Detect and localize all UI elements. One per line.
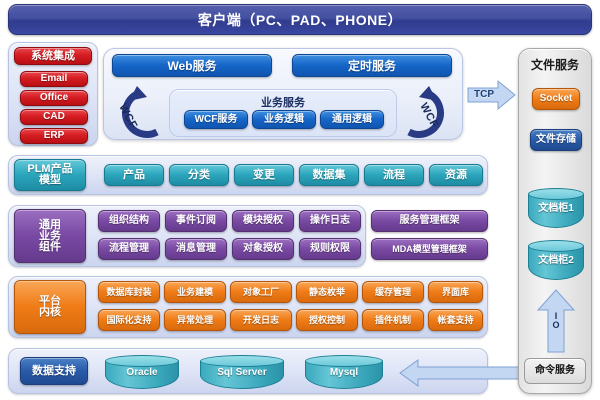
business-item-wcf-service[interactable]: WCF服务 (184, 110, 248, 129)
common-components-header-line3: 组件 (39, 242, 61, 253)
business-item-label: 业务逻辑 (264, 115, 304, 125)
kernel-account-set-support[interactable]: 帐套支持 (428, 309, 483, 331)
business-item-business-logic[interactable]: 业务逻辑 (252, 110, 316, 129)
component-label: 规则权限 (310, 244, 350, 254)
integration-item-label: Email (41, 74, 68, 84)
plm-item-process[interactable]: 流程 (364, 164, 424, 186)
timer-service-box[interactable]: 定时服务 (292, 54, 452, 77)
integration-item-erp[interactable]: ERP (20, 128, 88, 144)
file-cabinet-label: 文档柜2 (528, 256, 584, 266)
kernel-header: 平台 内核 (14, 280, 86, 334)
component-label: 对象授权 (243, 244, 283, 254)
kernel-item-label: 帐套支持 (437, 316, 473, 325)
kernel-static-enum[interactable]: 静态枚举 (296, 281, 358, 303)
plm-item-label: 数据集 (313, 170, 346, 181)
kernel-item-label: 对象工厂 (243, 288, 279, 297)
component-label: 流程管理 (109, 244, 149, 254)
file-cabinet-1[interactable]: 文档柜1 (528, 188, 584, 228)
framework-mda-model-management[interactable]: MDA模型管理框架 (371, 238, 488, 260)
plm-item-dataset[interactable]: 数据集 (299, 164, 359, 186)
kernel-item-label: 数据库封装 (106, 288, 151, 297)
kernel-item-label: 授权控制 (309, 316, 345, 325)
component-org-structure[interactable]: 组织结构 (98, 210, 160, 232)
component-label: 模块授权 (243, 216, 283, 226)
component-event-subscribe[interactable]: 事件订阅 (165, 210, 227, 232)
command-to-data-arrow-icon (400, 360, 520, 386)
kernel-plugin-mechanism[interactable]: 插件机制 (362, 309, 424, 331)
component-message-mgmt[interactable]: 消息管理 (165, 238, 227, 260)
common-components-header-line2: 业务 (39, 231, 61, 242)
io-label-line2: O (546, 321, 566, 330)
integration-item-cad[interactable]: CAD (20, 109, 88, 125)
kernel-item-label: 缓存管理 (375, 288, 411, 297)
business-item-label: WCF服务 (195, 115, 238, 125)
cylinder-top (528, 240, 584, 252)
integration-item-label: CAD (43, 112, 65, 122)
data-support-header-label: 数据支持 (32, 366, 76, 377)
kernel-item-label: 静态枚举 (309, 288, 345, 297)
file-service-storage-label: 文件存储 (536, 135, 576, 145)
cylinder-top (528, 188, 584, 200)
integration-item-label: ERP (44, 131, 65, 141)
web-service-label: Web服务 (167, 60, 216, 72)
plm-item-label: 资源 (445, 170, 467, 181)
plm-header: PLM产品 模型 (14, 159, 86, 191)
kernel-db-encapsulation[interactable]: 数据库封装 (98, 281, 160, 303)
kernel-dev-log[interactable]: 开发日志 (230, 309, 292, 331)
plm-item-product[interactable]: 产品 (104, 164, 164, 186)
integration-header: 系统集成 (14, 47, 92, 65)
database-sql-server[interactable]: Sql Server (200, 355, 284, 389)
integration-header-label: 系统集成 (31, 51, 75, 62)
component-object-auth[interactable]: 对象授权 (232, 238, 294, 260)
file-cabinet-2[interactable]: 文档柜2 (528, 240, 584, 280)
file-service-socket[interactable]: Socket (532, 88, 580, 110)
business-item-common-logic[interactable]: 通用逻辑 (320, 110, 384, 129)
database-label: Mysql (305, 368, 383, 378)
kernel-item-label: 界面库 (442, 288, 469, 297)
cylinder-top (200, 355, 284, 367)
component-rule-permission[interactable]: 规则权限 (299, 238, 361, 260)
component-label: 消息管理 (176, 244, 216, 254)
timer-service-label: 定时服务 (348, 60, 396, 72)
plm-item-classification[interactable]: 分类 (169, 164, 229, 186)
plm-item-label: 产品 (123, 170, 145, 181)
kernel-object-factory[interactable]: 对象工厂 (230, 281, 292, 303)
plm-header-line2: 模型 (39, 175, 61, 186)
framework-label: MDA模型管理框架 (392, 245, 467, 254)
integration-item-label: Office (40, 93, 68, 103)
common-components-header-line1: 通用 (39, 220, 61, 231)
kernel-business-modeling[interactable]: 业务建模 (164, 281, 226, 303)
kernel-i18n-support[interactable]: 国际化支持 (98, 309, 160, 331)
database-oracle[interactable]: Oracle (105, 355, 179, 389)
plm-item-label: 流程 (383, 170, 405, 181)
integration-item-office[interactable]: Office (20, 90, 88, 106)
data-support-header: 数据支持 (20, 357, 88, 385)
page-title: 客户端（PC、PAD、PHONE） (8, 4, 592, 35)
component-label: 组织结构 (109, 216, 149, 226)
web-service-box[interactable]: Web服务 (112, 54, 272, 77)
page-title-label: 客户端（PC、PAD、PHONE） (198, 13, 402, 27)
framework-service-management[interactable]: 服务管理框架 (371, 210, 488, 232)
kernel-item-label: 国际化支持 (106, 316, 151, 325)
kernel-exception-handling[interactable]: 异常处理 (164, 309, 226, 331)
component-operation-log[interactable]: 操作日志 (299, 210, 361, 232)
plm-item-resource[interactable]: 资源 (429, 164, 483, 186)
plm-item-label: 分类 (188, 170, 210, 181)
framework-label: 服务管理框架 (400, 216, 460, 226)
io-label: I O (546, 312, 566, 331)
kernel-auth-control[interactable]: 授权控制 (296, 309, 358, 331)
kernel-ui-library[interactable]: 界面库 (428, 281, 483, 303)
common-components-header: 通用 业务 组件 (14, 209, 86, 263)
command-service-box[interactable]: 命令服务 (524, 358, 586, 384)
business-item-label: 通用逻辑 (332, 115, 372, 125)
command-service-label: 命令服务 (535, 366, 575, 376)
component-label: 事件订阅 (176, 216, 216, 226)
kernel-item-label: 业务建模 (177, 288, 213, 297)
file-service-title: 文件服务 (518, 56, 592, 73)
kernel-item-label: 异常处理 (177, 316, 213, 325)
database-mysql[interactable]: Mysql (305, 355, 383, 389)
plm-item-change[interactable]: 变更 (234, 164, 294, 186)
business-service-title: 业务服务 (170, 94, 396, 110)
kernel-item-label: 开发日志 (243, 316, 279, 325)
component-module-auth[interactable]: 模块授权 (232, 210, 294, 232)
integration-item-email[interactable]: Email (20, 71, 88, 87)
cylinder-top (305, 355, 383, 367)
kernel-item-label: 插件机制 (375, 316, 411, 325)
database-label: Sql Server (200, 368, 284, 378)
database-label: Oracle (105, 368, 179, 378)
cylinder-top (105, 355, 179, 367)
component-process-mgmt[interactable]: 流程管理 (98, 238, 160, 260)
kernel-header-line2: 内核 (39, 307, 61, 318)
architecture-diagram: 客户端（PC、PAD、PHONE） 系统集成 Email Office CAD … (0, 0, 600, 400)
component-label: 操作日志 (310, 216, 350, 226)
kernel-cache-management[interactable]: 缓存管理 (362, 281, 424, 303)
file-cabinet-label: 文档柜1 (528, 204, 584, 214)
file-service-socket-label: Socket (540, 94, 573, 104)
tcp-label: TCP (474, 89, 494, 100)
plm-item-label: 变更 (253, 170, 275, 181)
file-service-storage[interactable]: 文件存储 (530, 129, 582, 151)
